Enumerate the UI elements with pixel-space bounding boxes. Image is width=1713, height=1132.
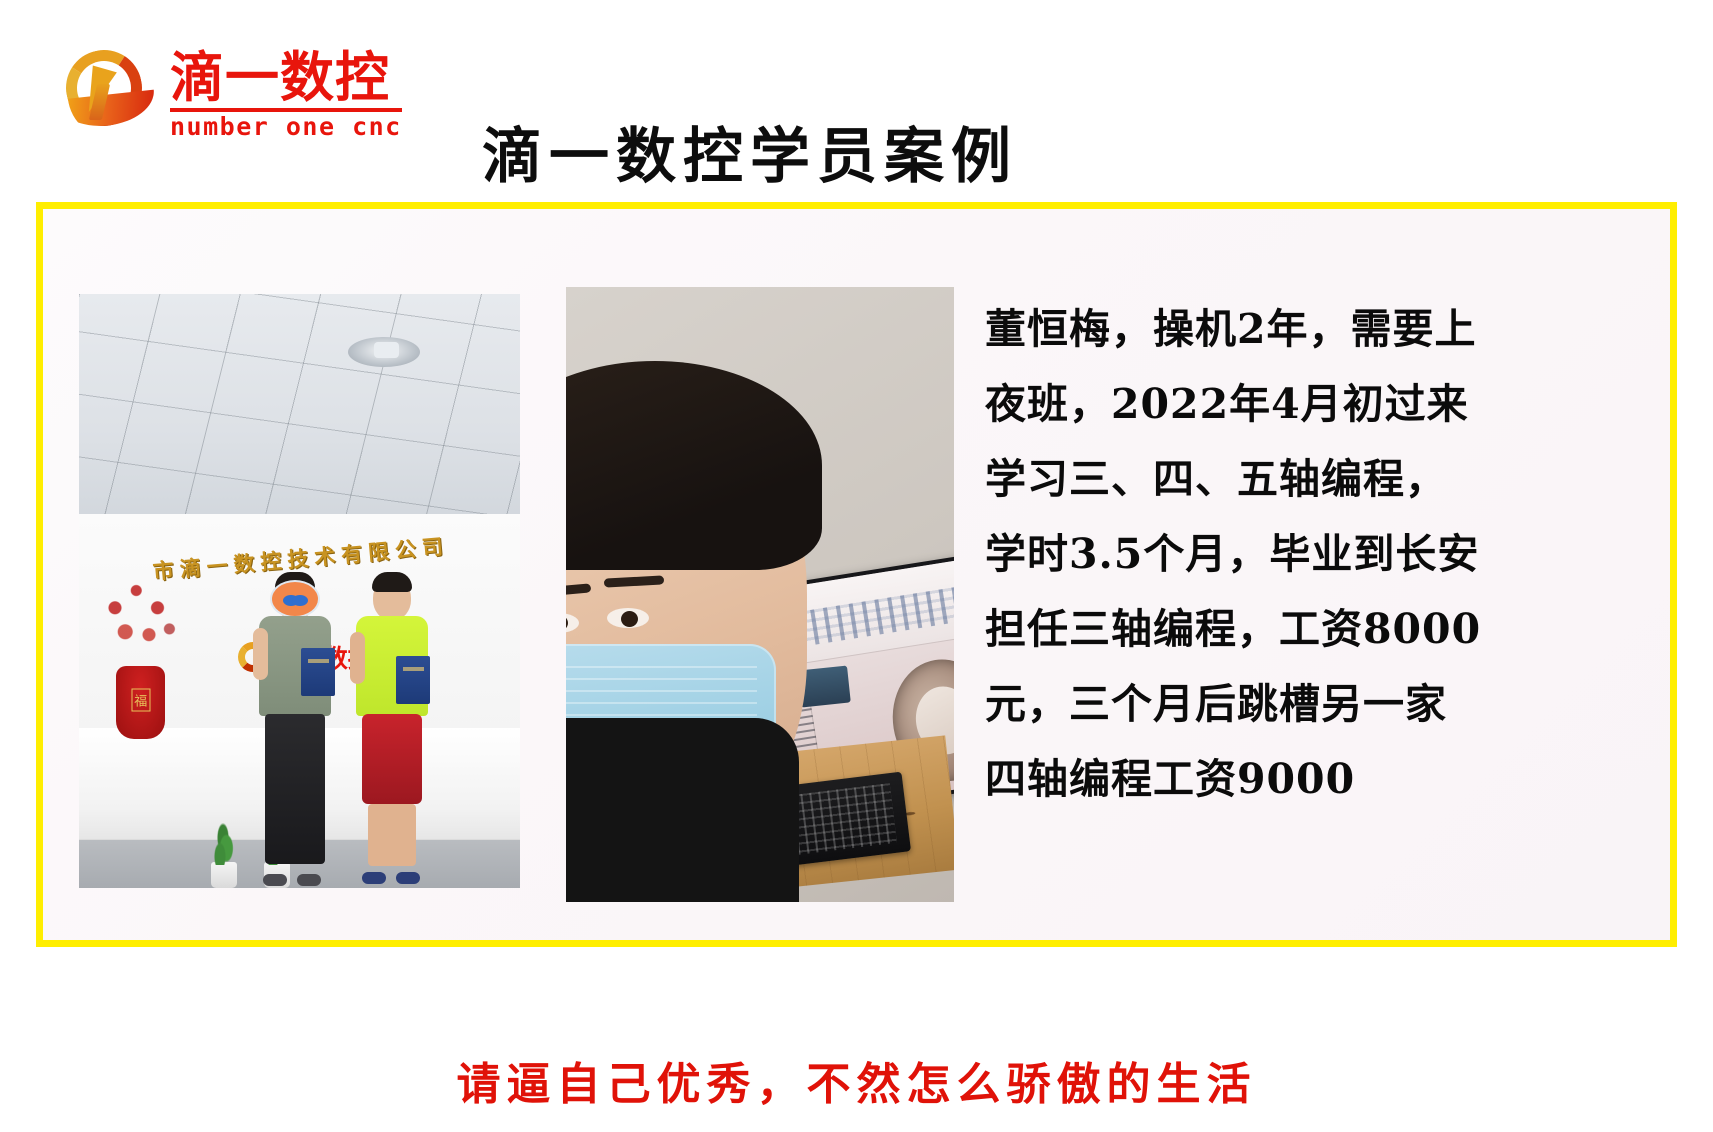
person-sandal-left [362,872,386,884]
person-shirt [566,718,799,903]
red-blossoms [98,579,183,675]
footer-slogan: 请逼自己优秀，不然怎么骄傲的生活 [0,1048,1713,1112]
person-shoe-right [297,874,321,886]
eye-right [607,608,649,628]
certificate-booklet [396,656,430,704]
student-story-text: 董恒梅，操机2年，需要上 夜班，2022年4月初过来 学习三、四、五轴编程， 学… [985,292,1545,817]
story-line: 董恒梅，操机2年，需要上 [985,292,1545,367]
person-shorts [362,714,422,804]
person-arm [253,628,268,680]
person-legs [368,804,416,866]
eye-left [566,613,579,633]
person-shoe-left [263,874,287,886]
number-one-cnc-logo-icon [60,46,158,144]
story-line: 元，三个月后跳槽另一家 [985,667,1545,742]
person-hair [372,572,412,592]
certificate-booklet [301,648,335,696]
eyebrow-right [604,575,664,587]
story-line: 担任三轴编程，工资8000 [985,592,1545,667]
person-trousers [265,714,325,864]
story-line: 夜班，2022年4月初过来 [985,367,1545,442]
flower-vase [97,579,185,739]
graduation-photo: 市滴一数控技术有限公司 滴一数控 致力改变中国数控行业技术保守现象 [79,294,520,888]
page-title: 滴一数控学员案例 [430,108,1070,195]
person-arm [350,632,365,684]
story-line: 学时3.5个月，毕业到长安 [985,517,1545,592]
brand-name-en: number one cnc [170,114,402,139]
story-line: 四轴编程工资9000 [985,742,1545,817]
story-line: 学习三、四、五轴编程， [985,442,1545,517]
face-sticker-icon [270,580,320,618]
brand-logo-text: 滴一数控 number one cnc [170,50,402,138]
brand-name-cn: 滴一数控 [170,50,402,105]
potted-plant-1 [211,862,237,888]
brand-logo: 滴一数控 number one cnc [60,42,390,147]
ceiling-light-icon [348,337,420,367]
work-photo [566,287,954,902]
fu-vase [116,666,165,740]
slide-canvas: 滴一数控 number one cnc 滴一数控学员案例 毕业照 工作照 市滴一… [0,0,1713,1132]
brand-divider [170,108,402,112]
graduate-person-right [352,576,432,876]
person-sandal-right [396,872,420,884]
graduate-person-left [255,576,335,876]
office-ceiling [79,294,520,520]
eyebrow-left [566,583,591,597]
